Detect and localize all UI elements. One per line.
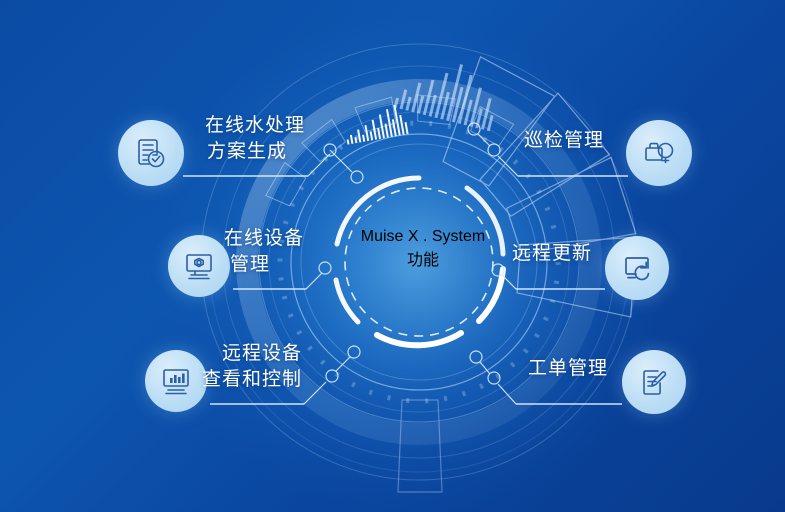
hub-title-en: Muise X . System	[343, 228, 503, 246]
node-work-order-management-bubble[interactable]	[622, 350, 686, 414]
hub-title-cn: 功能	[343, 246, 503, 270]
node-inspection-management-bubble[interactable]	[626, 120, 692, 186]
label-inspection-management[interactable]: 巡检管理	[524, 128, 604, 154]
label-online-water-treatment-plan[interactable]: 在线水处理 方案生成	[0, 113, 305, 164]
label-work-order-management[interactable]: 工单管理	[528, 356, 608, 382]
label-line-2: 方案生成	[0, 139, 305, 165]
document-pencil-icon	[638, 366, 671, 399]
inspection-camera-icon	[641, 135, 677, 171]
hub-center-text: Muise X . System 功能	[343, 228, 503, 270]
label-line-2: 查看和控制	[0, 367, 302, 393]
label-line-1: 在线设备	[0, 226, 304, 252]
label-line-1: 在线水处理	[0, 113, 305, 139]
label-line-1: 工单管理	[528, 356, 608, 382]
label-line-1: 远程设备	[0, 341, 302, 367]
label-remote-device-view-control[interactable]: 远程设备 查看和控制	[0, 341, 302, 392]
label-line-1: 远程更新	[512, 241, 592, 267]
label-online-device-management[interactable]: 在线设备 管理	[0, 226, 304, 277]
infographic-canvas: Muise X . System 功能 在线水处理 方案生成	[0, 0, 785, 512]
screen-refresh-icon	[621, 252, 654, 285]
label-line-2: 管理	[0, 252, 304, 278]
label-line-1: 巡检管理	[524, 128, 604, 154]
node-remote-update-bubble[interactable]	[605, 236, 669, 300]
label-remote-update[interactable]: 远程更新	[512, 241, 592, 267]
